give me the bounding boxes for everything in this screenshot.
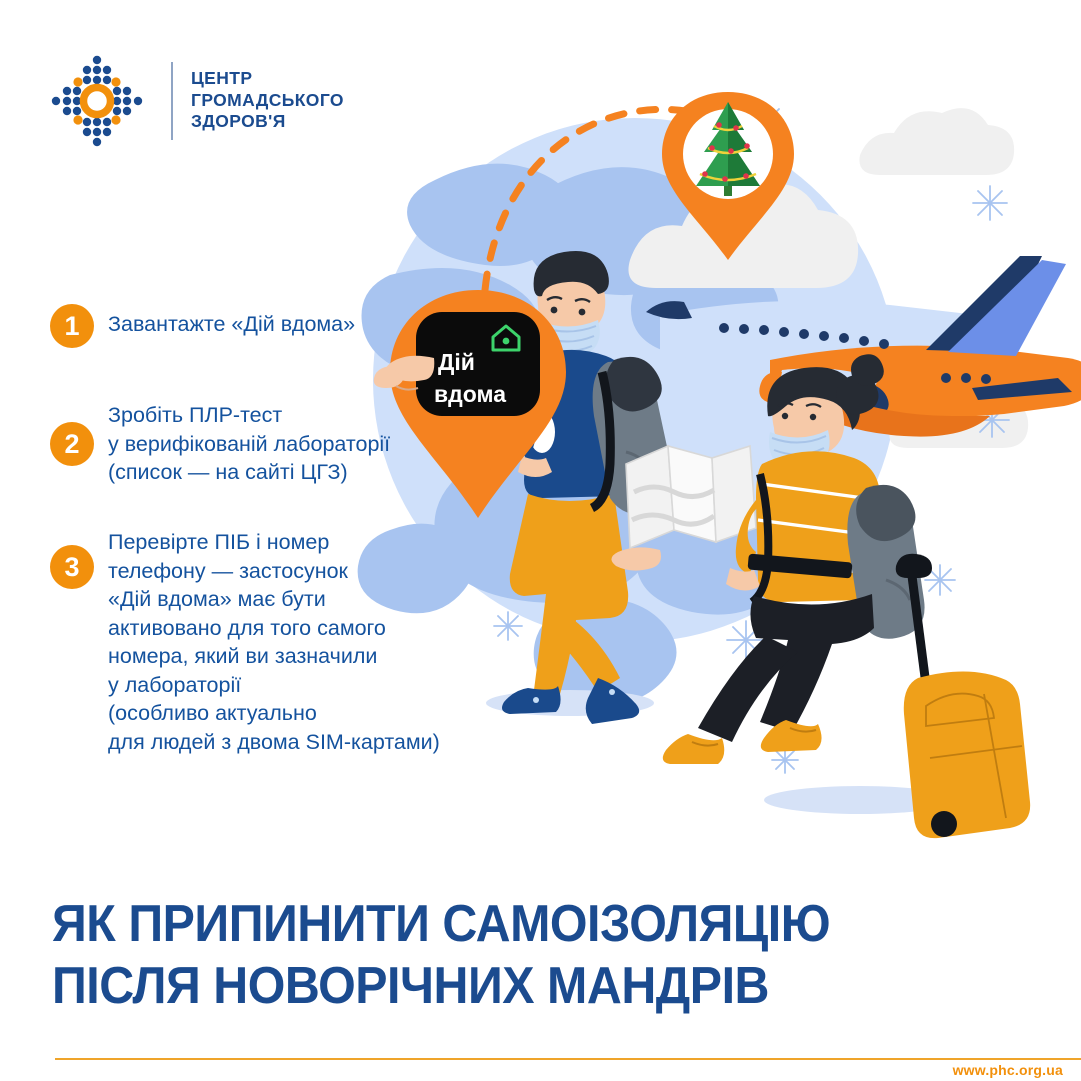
headline-line-1: ЯК ПРИПИНИТИ САМОІЗОЛЯЦІЮ (52, 893, 973, 955)
step-number-badge: 2 (50, 422, 94, 466)
step-line: у верифікованій лабораторії (108, 430, 390, 459)
step-line: (список — на сайті ЦГЗ) (108, 458, 390, 487)
headline-line-2: ПІСЛЯ НОВОРІЧНИХ МАНДРІВ (52, 955, 973, 1017)
step-line: номера, який ви зазначили (108, 642, 440, 671)
paper-map-icon (626, 446, 756, 548)
step-line: активовано для того самого (108, 614, 440, 643)
footer-website-link[interactable]: www.phc.org.ua (953, 1062, 1063, 1078)
step-number-badge: 3 (50, 545, 94, 589)
steps-list: 1 Завантажте «Дій вдома» 2 Зробіть ПЛР-т… (0, 0, 520, 800)
step-text: Перевірте ПІБ і номер телефону — застосу… (108, 528, 440, 756)
infographic-canvas: ЦЕНТР ГРОМАДСЬКОГО ЗДОРОВ'Я (0, 0, 1081, 1081)
step-line: Завантажте «Дій вдома» (108, 310, 355, 339)
rolling-suitcase-icon (896, 554, 1030, 838)
page-title: ЯК ПРИПИНИТИ САМОІЗОЛЯЦІЮ ПІСЛЯ НОВОРІЧН… (52, 893, 973, 1017)
step-text: Завантажте «Дій вдома» (108, 310, 355, 339)
step-line: для людей з двома SIM-картами) (108, 728, 440, 757)
step-line: Зробіть ПЛР-тест (108, 401, 390, 430)
footer-divider (55, 1058, 1081, 1060)
step-line: телефону — застосунок (108, 557, 440, 586)
step-text: Зробіть ПЛР-тест у верифікованій лаборат… (108, 401, 390, 487)
step-line: (особливо актуально (108, 699, 440, 728)
step-line: Перевірте ПІБ і номер (108, 528, 440, 557)
step-line: «Дій вдома» має бути (108, 585, 440, 614)
step-number-badge: 1 (50, 304, 94, 348)
step-line: у лабораторії (108, 671, 440, 700)
